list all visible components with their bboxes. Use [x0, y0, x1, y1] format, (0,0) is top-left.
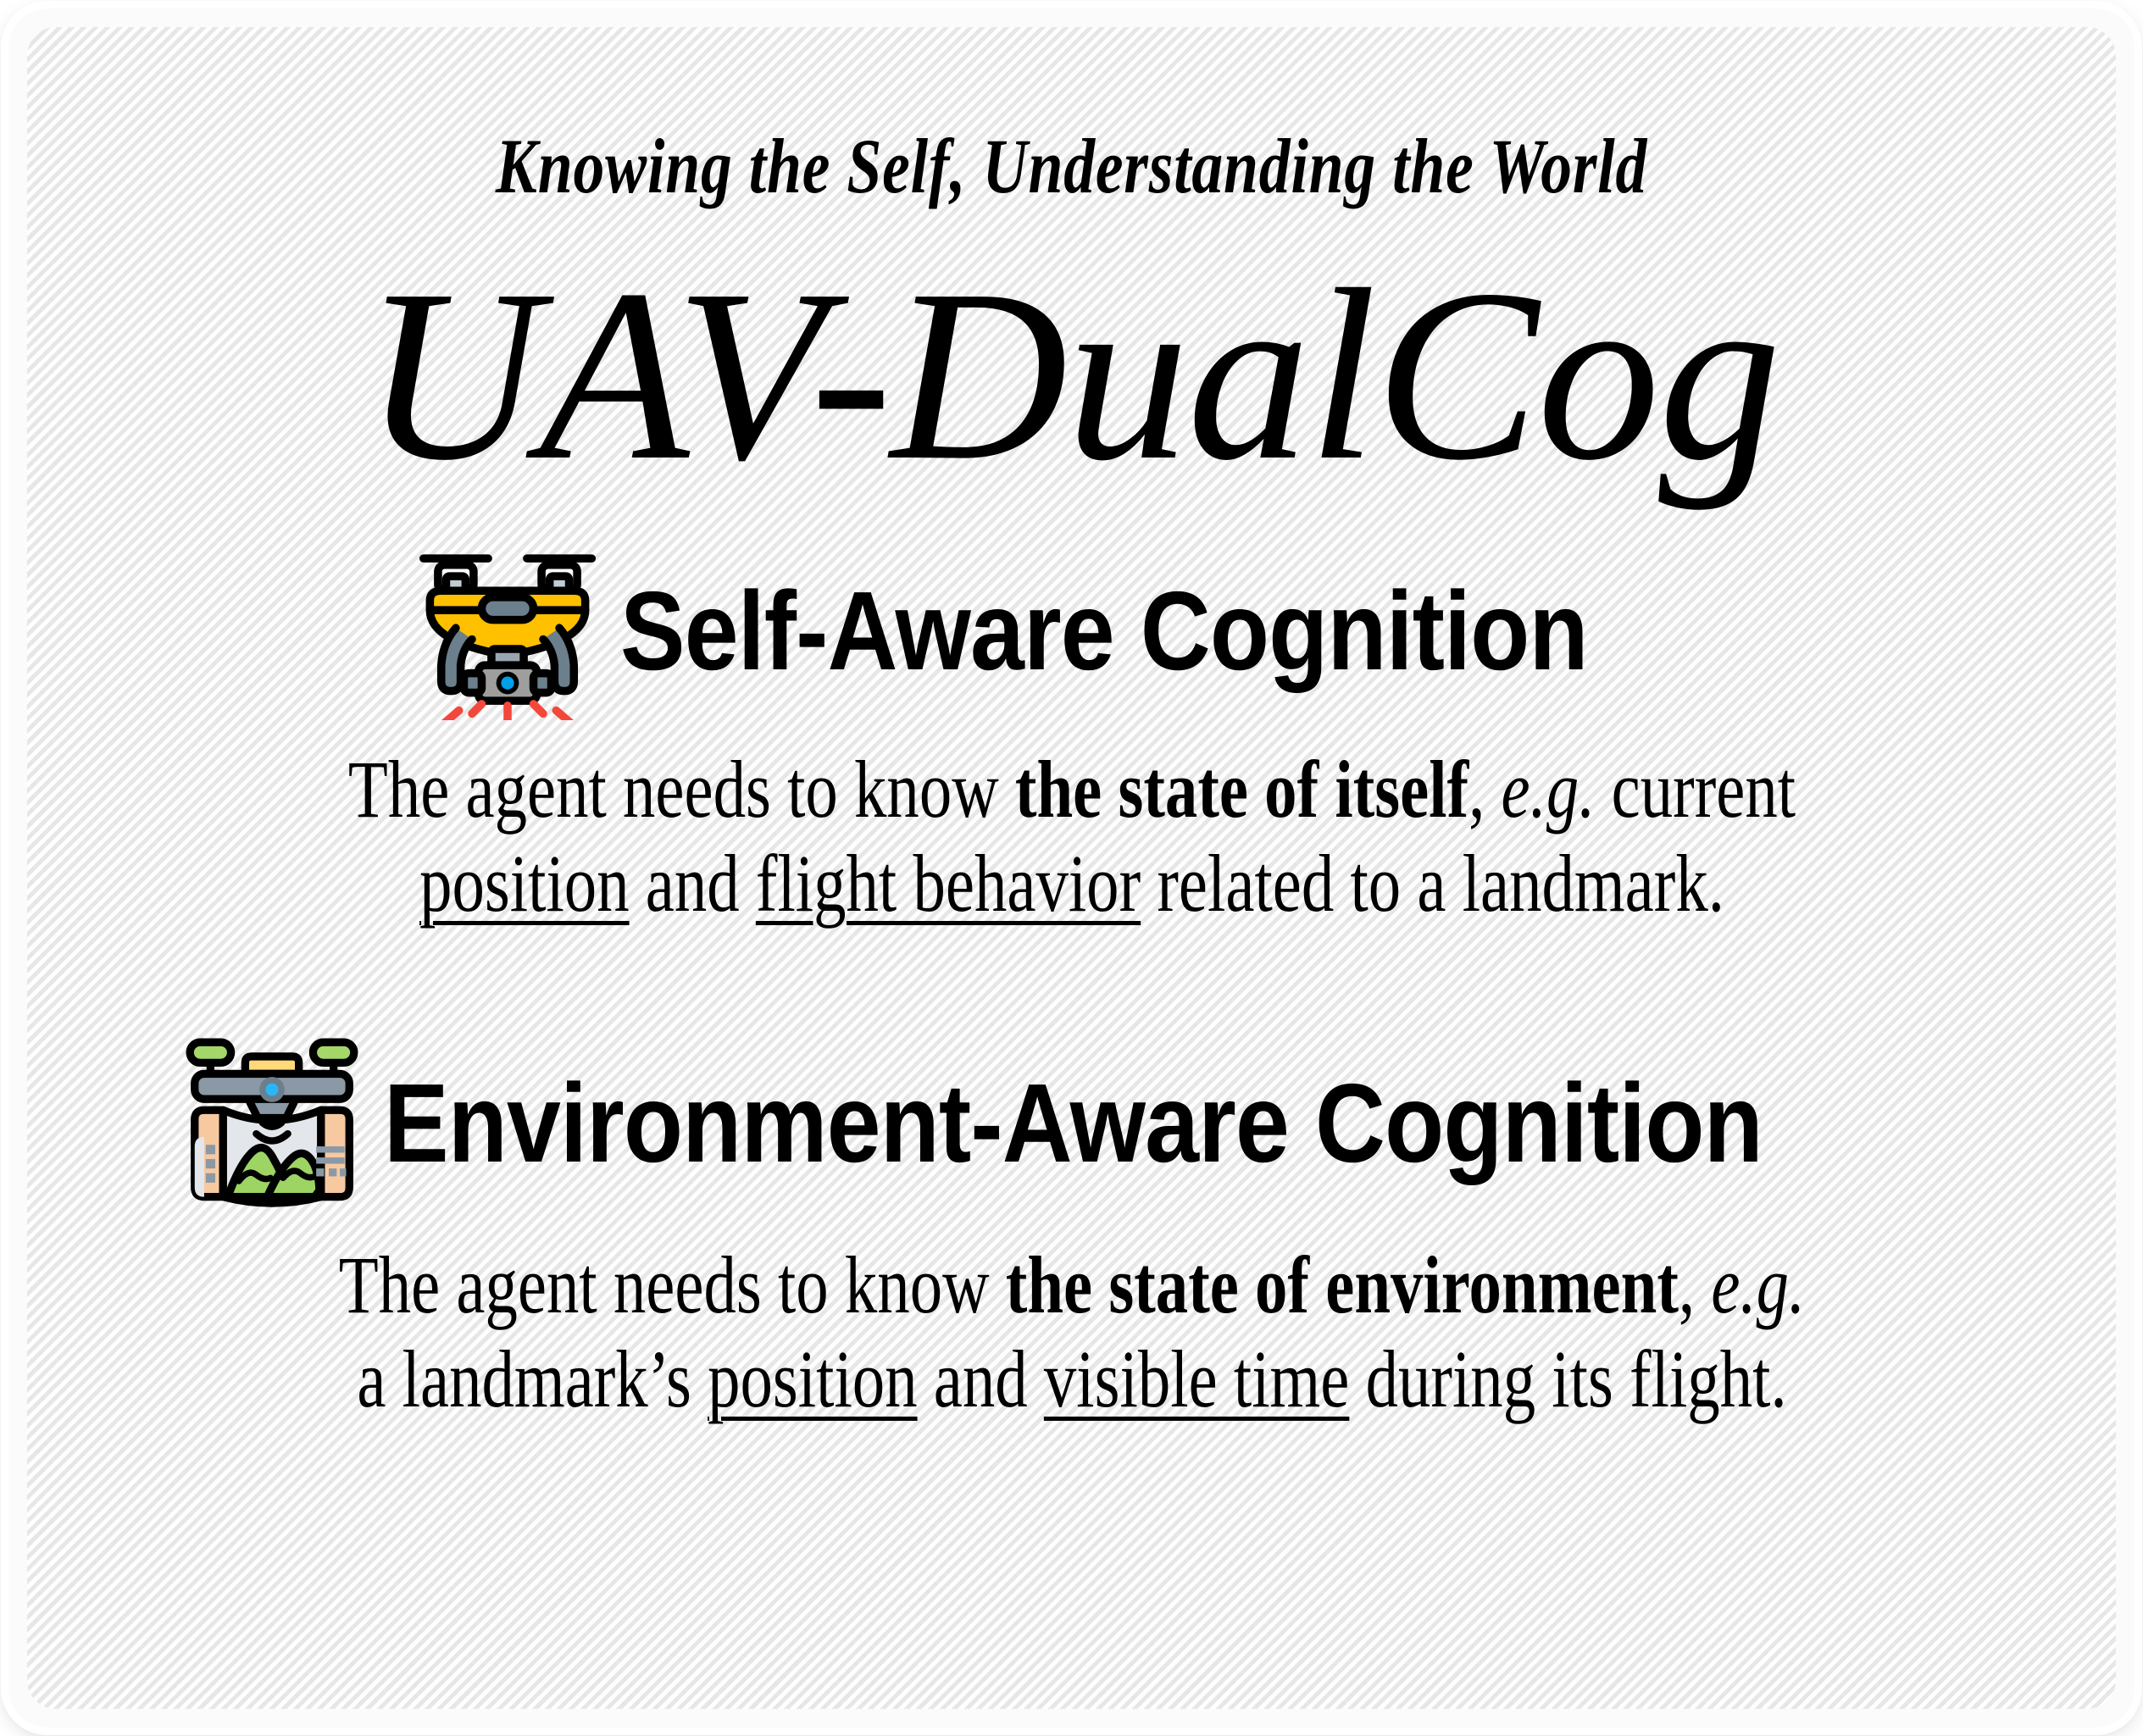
- section-self-aware-body: The agent needs to know the state of its…: [282, 720, 1862, 931]
- body-text-underline-position: position: [708, 1334, 918, 1424]
- drone-landscape-scan-icon: [175, 1033, 369, 1216]
- body-text-underline-visible-time: visible time: [1043, 1334, 1348, 1424]
- body-text-underline-flight-behavior: flight behavior: [755, 838, 1140, 929]
- body-text-post: current: [1595, 744, 1796, 835]
- body-text-italic: e.g.: [1501, 744, 1595, 835]
- body-text-mid2: and: [629, 838, 755, 929]
- body-text-post2: during its flight.: [1349, 1334, 1786, 1424]
- section-self-aware-title: Self-Aware Cognition: [620, 574, 1588, 689]
- section-environment-aware: Environment-Aware Cognition The agent ne…: [85, 931, 2059, 1427]
- poster-content: Knowing the Self, Understanding the Worl…: [27, 27, 2116, 1709]
- section-environment-aware-title: Environment-Aware Cognition: [384, 1067, 1763, 1181]
- body-text-underline-position: position: [419, 838, 630, 929]
- body-text-bold: the state of environment: [1005, 1240, 1678, 1330]
- section-environment-aware-body: The agent needs to know the state of env…: [282, 1216, 1862, 1427]
- poster-frame: Knowing the Self, Understanding the Worl…: [8, 8, 2135, 1728]
- section-self-aware: Self-Aware Cognition The agent needs to …: [85, 498, 2059, 931]
- body-text-mid2: and: [917, 1334, 1043, 1424]
- poster-tagline: Knowing the Self, Understanding the Worl…: [236, 27, 1907, 205]
- section-self-aware-body-line2: position and flight behavior related to …: [282, 836, 1862, 930]
- body-text-mid: ,: [1678, 1240, 1710, 1330]
- body-text-pre: The agent needs to know: [338, 1240, 1005, 1330]
- section-environment-aware-body-line1: The agent needs to know the state of env…: [282, 1238, 1862, 1332]
- body-text-pre2: a landmark’s: [357, 1334, 708, 1424]
- section-self-aware-body-line1: The agent needs to know the state of its…: [282, 742, 1862, 836]
- section-environment-aware-header: Environment-Aware Cognition: [85, 1033, 2059, 1216]
- body-text-bold: the state of itself: [1014, 744, 1468, 835]
- body-text-pre: The agent needs to know: [347, 744, 1014, 835]
- poster-root: Knowing the Self, Understanding the Worl…: [0, 0, 2143, 1736]
- section-environment-aware-body-line2: a landmark’s position and visible time d…: [282, 1332, 1862, 1426]
- drone-quadcopter-icon: [410, 542, 605, 720]
- poster-main-title: UAV-DualCog: [27, 205, 2116, 498]
- section-self-aware-header: Self-Aware Cognition: [85, 542, 2059, 720]
- body-text-italic: e.g.: [1711, 1240, 1805, 1330]
- body-text-mid: ,: [1468, 744, 1501, 835]
- body-text-post2: related to a landmark.: [1141, 838, 1724, 929]
- poster-texture-background: Knowing the Self, Understanding the Worl…: [27, 27, 2116, 1709]
